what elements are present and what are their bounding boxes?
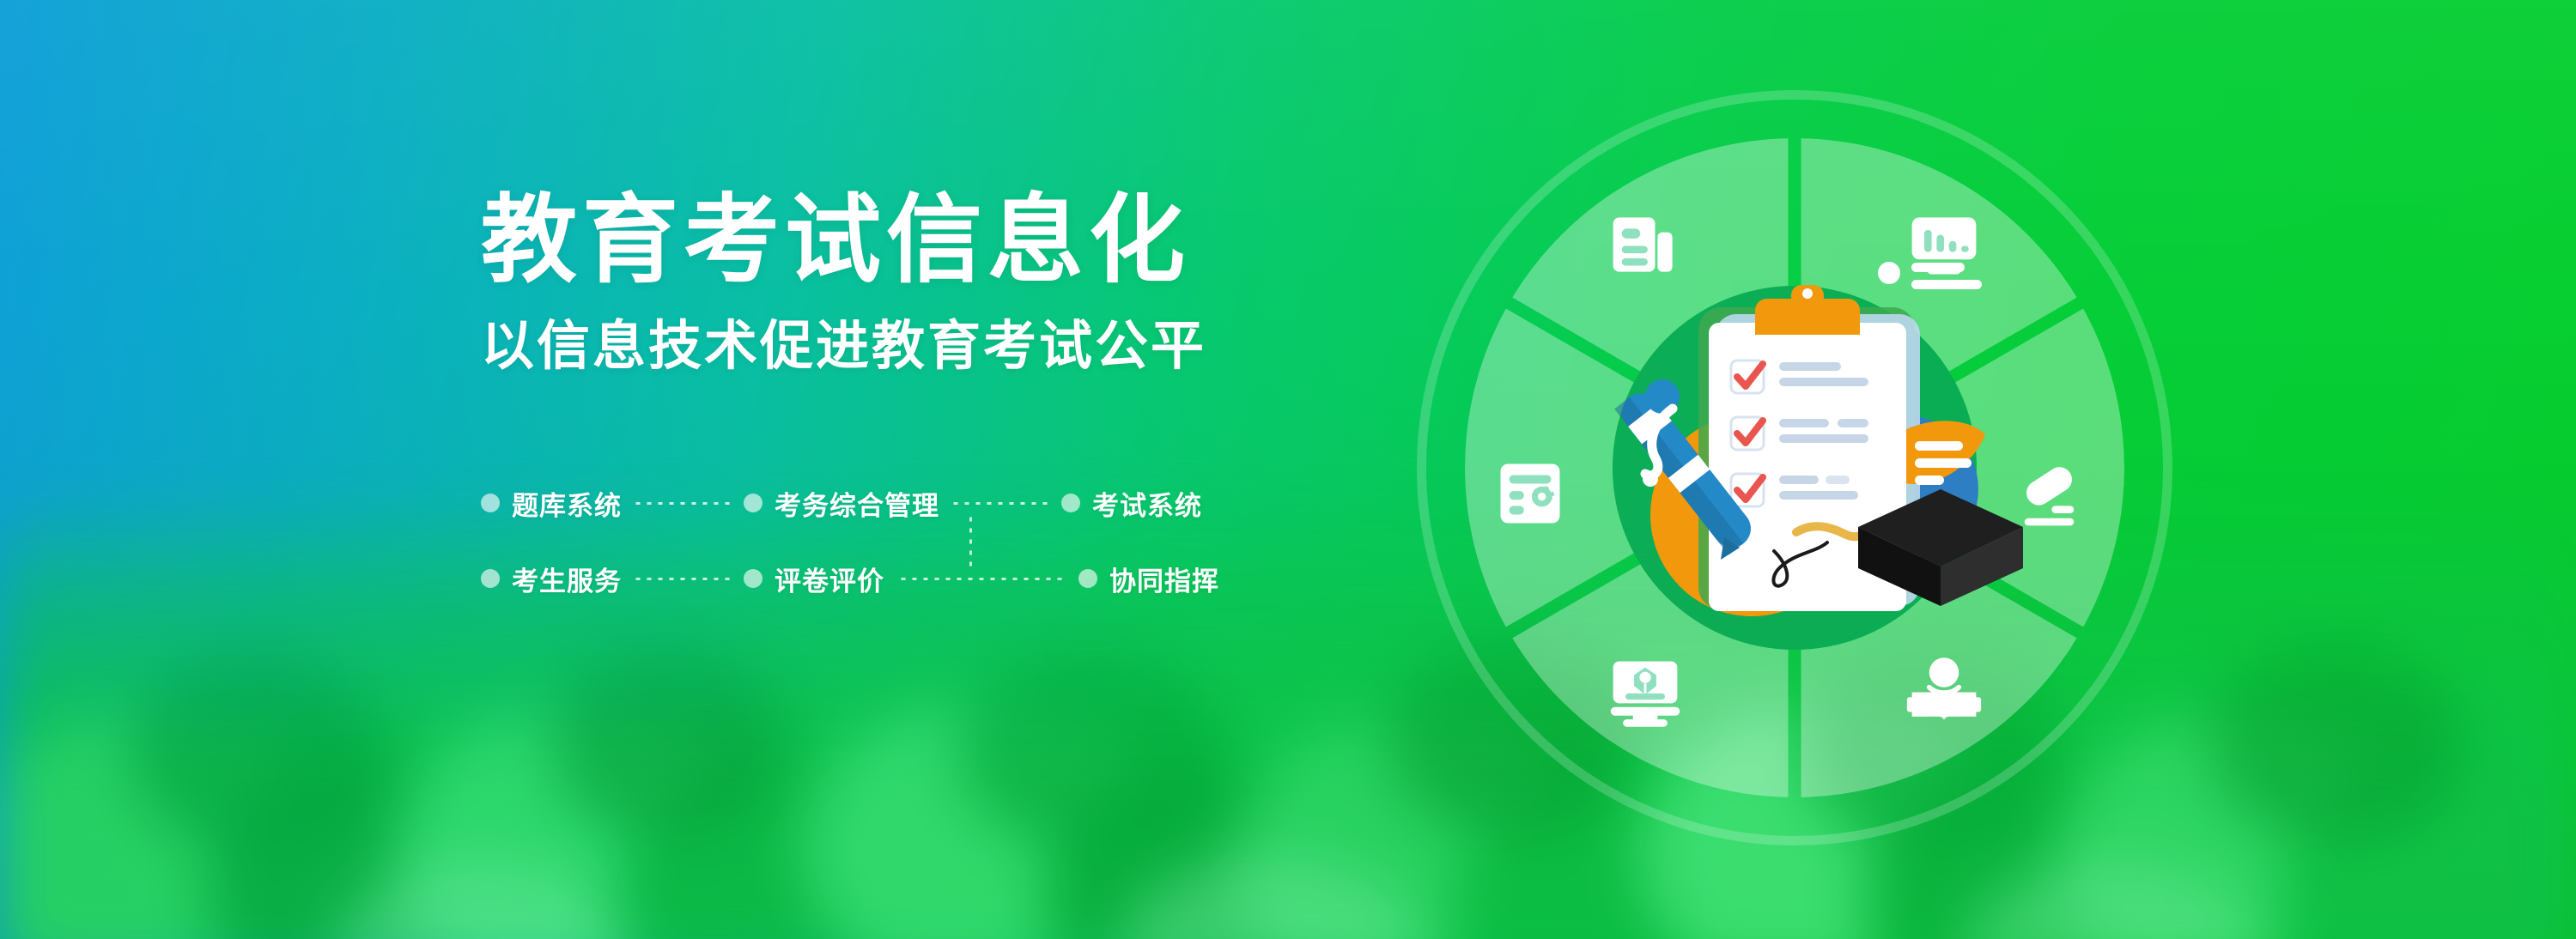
dotted-connector — [635, 578, 730, 580]
dotted-connector — [953, 502, 1048, 505]
dot-bullet-icon — [744, 569, 762, 588]
hero-copy: 教育考试信息化 以信息技术促进教育考试公平 — [481, 187, 1425, 380]
hero-banner: 教育考试信息化 以信息技术促进教育考试公平 题库系统 考务综合管理 考试系统 考… — [0, 0, 2576, 939]
feature-tag-协同指挥[interactable]: 协同指挥 — [1109, 560, 1219, 598]
dot-bullet-icon — [744, 494, 762, 512]
feature-tag-考务综合管理[interactable]: 考务综合管理 — [775, 484, 939, 523]
vertical-dotted-connector — [969, 512, 972, 572]
feature-tag-row: 考生服务 评卷评价 协同指挥 — [481, 556, 1219, 601]
circular-infographic — [1417, 90, 2172, 845]
dot-bullet-icon — [481, 569, 500, 588]
dot-bullet-icon — [481, 494, 500, 512]
settings-panel-gear-icon[interactable] — [1491, 454, 1570, 533]
clipboard-checklist-illustration — [1571, 232, 2052, 712]
blurred-crowd-photo — [0, 493, 2576, 939]
feature-tag-row: 题库系统 考务综合管理 考试系统 — [481, 481, 1219, 525]
dotted-connector — [898, 578, 1065, 580]
feature-tag-题库系统[interactable]: 题库系统 — [512, 484, 622, 523]
dot-bullet-icon — [1078, 569, 1097, 588]
page-subtitle: 以信息技术促进教育考试公平 — [481, 313, 1425, 380]
feature-tag-list: 题库系统 考务综合管理 考试系统 考生服务 评卷评价 协同指挥 — [481, 481, 1219, 601]
page-title: 教育考试信息化 — [481, 187, 1425, 293]
feature-tag-考生服务[interactable]: 考生服务 — [512, 560, 622, 598]
dot-bullet-icon — [1061, 494, 1080, 512]
feature-tag-评卷评价[interactable]: 评卷评价 — [775, 560, 884, 598]
feature-tag-考试系统[interactable]: 考试系统 — [1092, 484, 1202, 523]
dotted-connector — [635, 502, 730, 505]
